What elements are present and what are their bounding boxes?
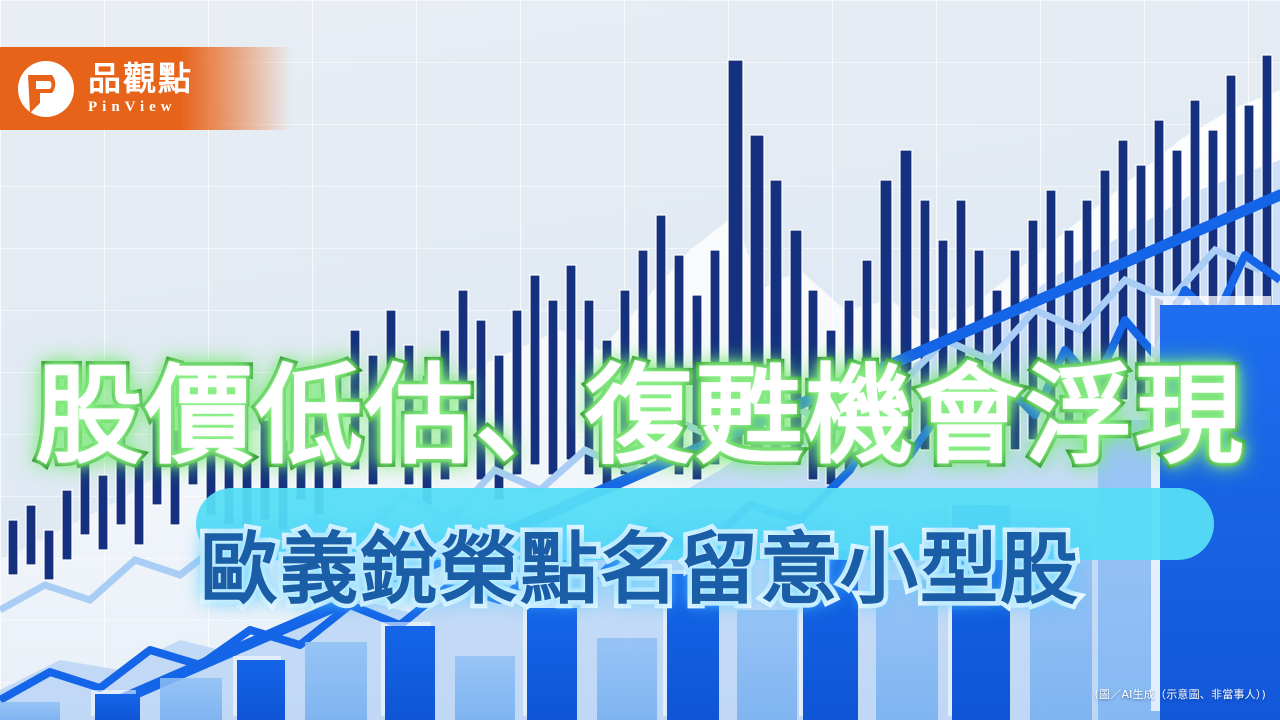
- brand-name-en: PinView: [88, 100, 193, 115]
- brand-logo-bar[interactable]: 品觀點 PinView: [0, 47, 292, 130]
- brand-name-cn: 品觀點: [88, 62, 193, 95]
- bar-4: [527, 608, 577, 720]
- brand-logo-text: 品觀點 PinView: [88, 62, 193, 115]
- bar-lite-1: [0, 702, 60, 720]
- bar-2: [237, 660, 285, 720]
- bar-lite-6: [737, 610, 797, 720]
- poster-canvas: 品觀點 PinView 股價低估、復甦機會浮現 歐義銳榮點名留意小型股 (圖／A…: [0, 0, 1280, 720]
- bar-1: [95, 694, 140, 720]
- headline-line-2: 歐義銳榮點名留意小型股: [200, 528, 1080, 614]
- bar-3: [385, 626, 435, 720]
- bar-lite-2: [160, 678, 222, 720]
- bar-lite-5: [597, 638, 657, 720]
- headline-secondary-wrap: 歐義銳榮點名留意小型股: [0, 520, 1280, 614]
- image-credit: (圖／AI生成（示意圖、非當事人）): [1095, 686, 1266, 702]
- bar-lite-4: [455, 656, 515, 720]
- bar-lite-3: [305, 642, 367, 720]
- pinview-p-mark-icon: [16, 59, 76, 119]
